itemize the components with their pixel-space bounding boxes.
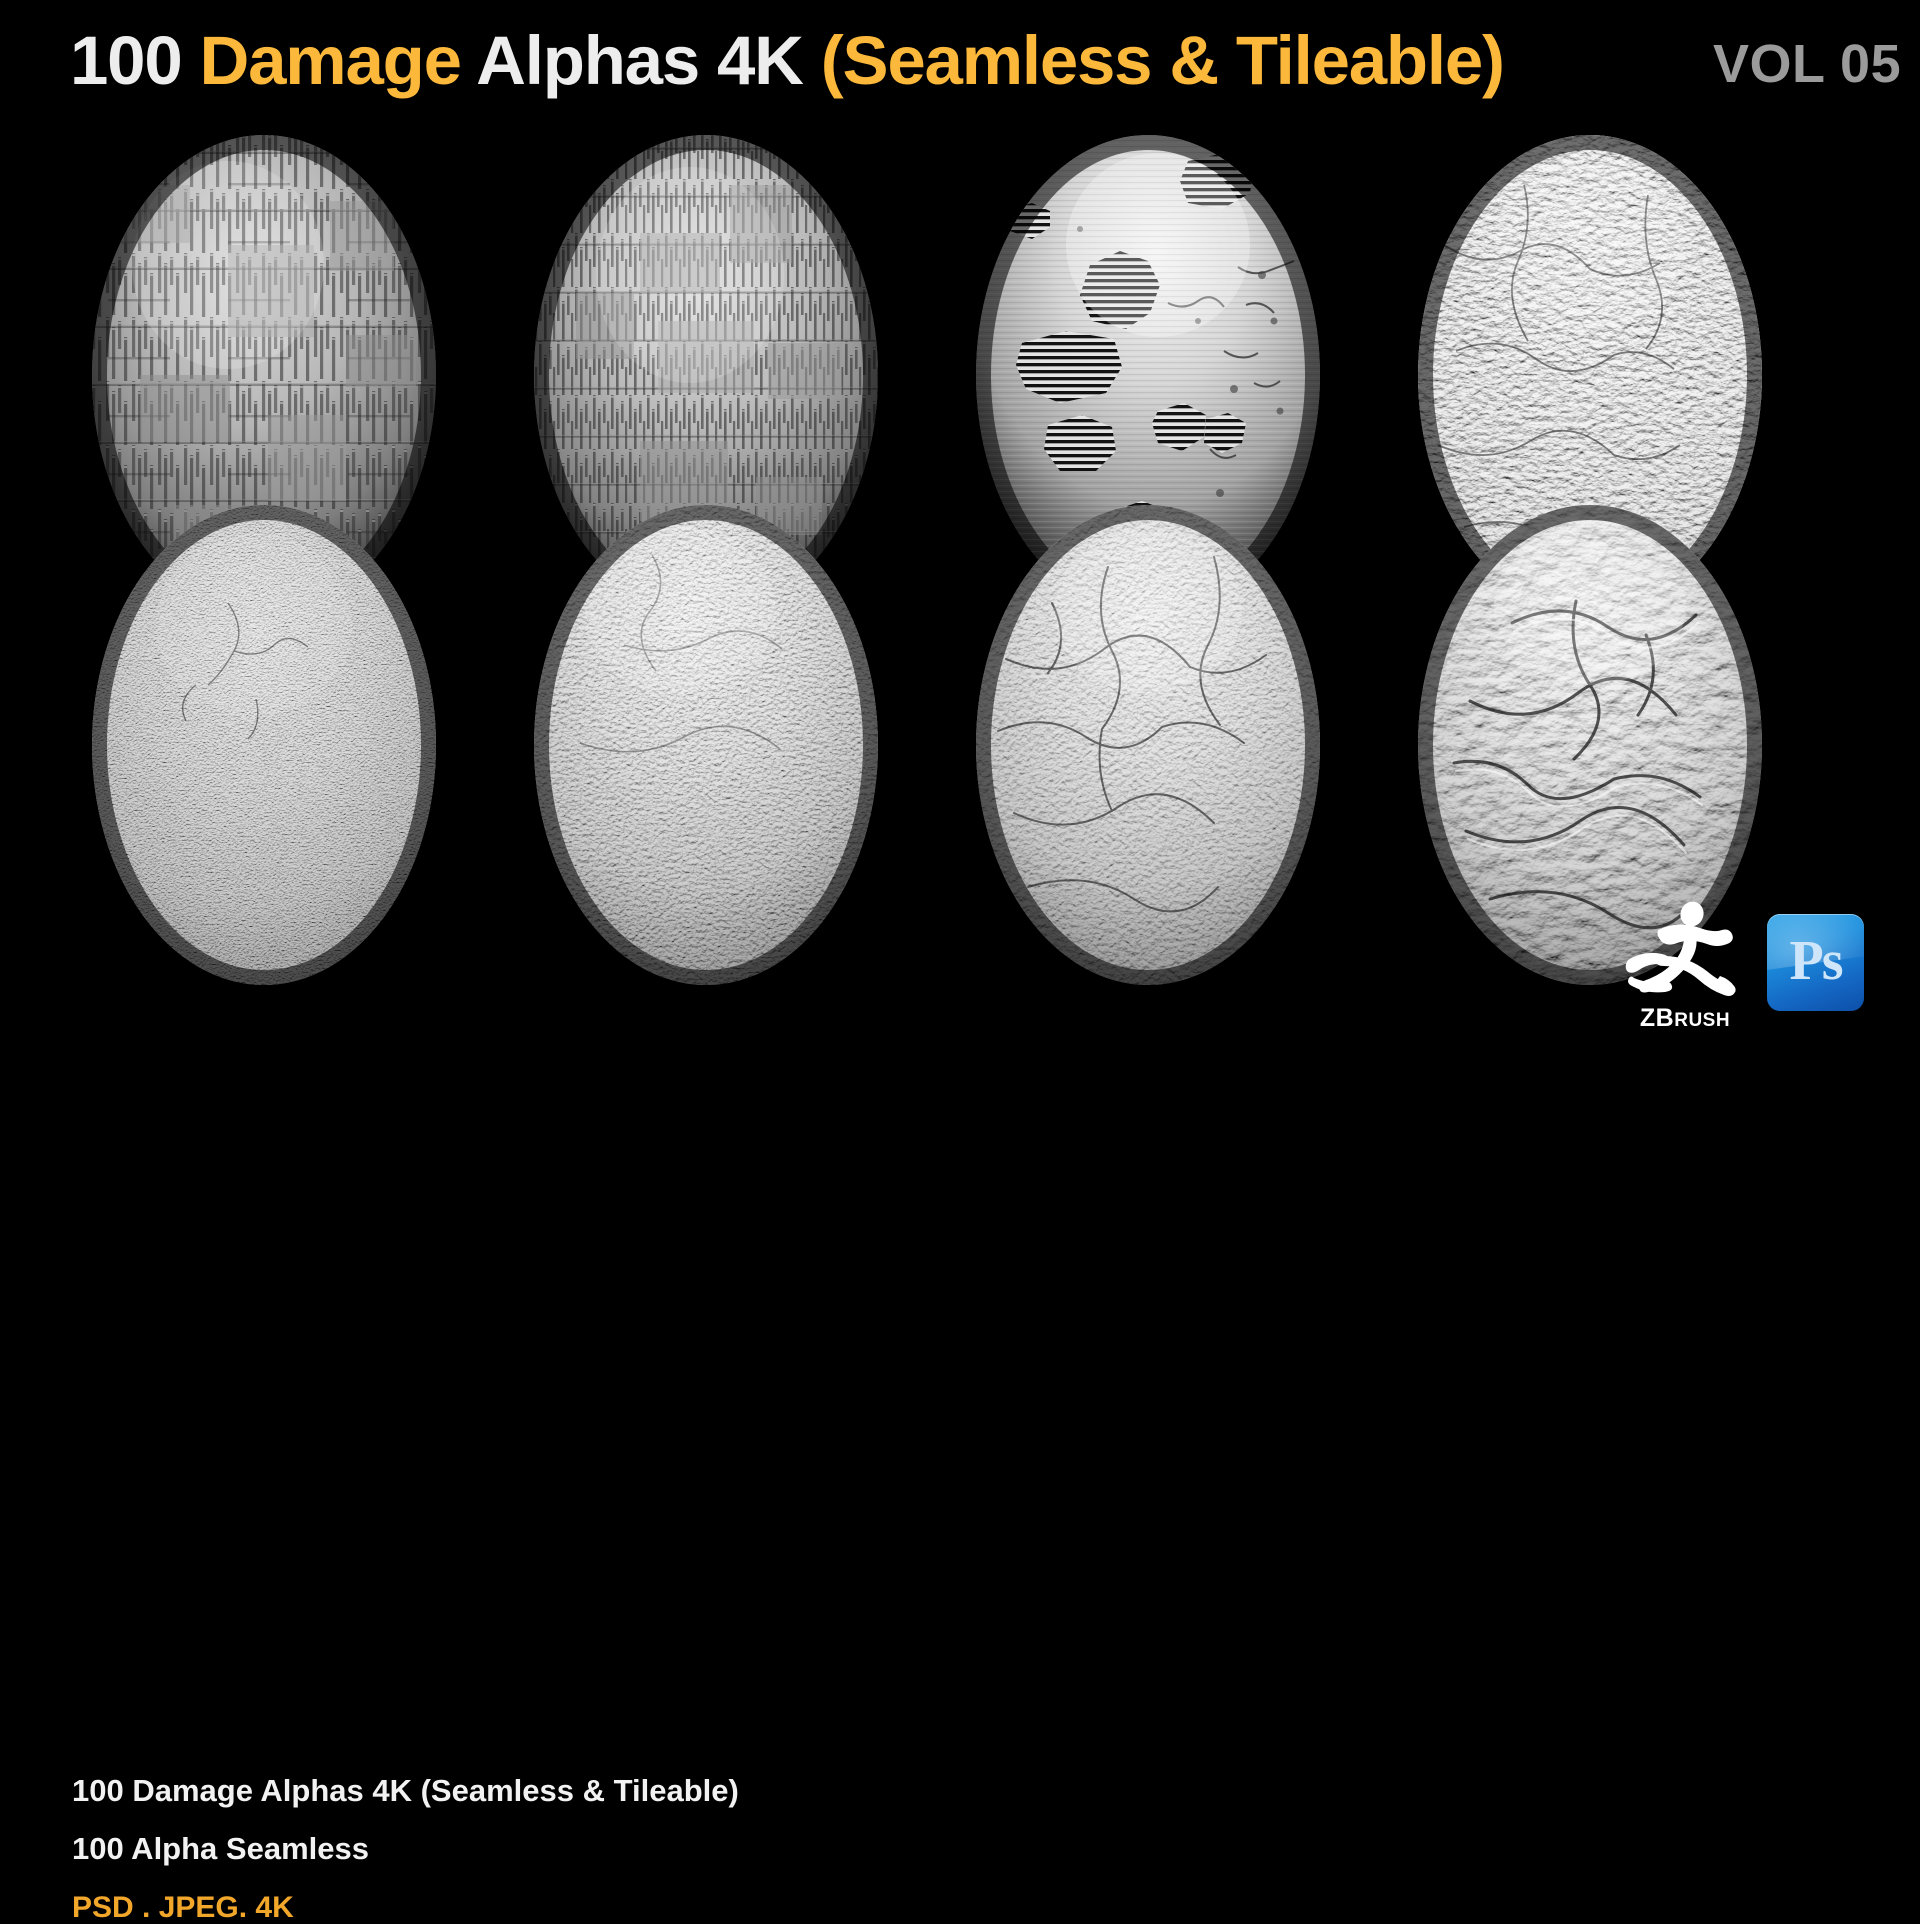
photoshop-glyph: Ps <box>1767 914 1864 1011</box>
footer-line-title: 100 Damage Alphas 4K (Seamless & Tileabl… <box>72 1775 739 1806</box>
zbrush-wordmark-main: ZB <box>1640 1004 1674 1032</box>
zbrush-wordmark: ZBRUSH <box>1622 1006 1748 1031</box>
zbrush-wordmark-rest: RUSH <box>1674 1010 1730 1031</box>
photoshop-logo: Ps <box>1767 914 1864 1011</box>
zbrush-logo: ZBRUSH <box>1620 900 1750 1050</box>
footer-line-formats: PSD . JPEG. 4K <box>72 1893 294 1923</box>
footer-line-count: 100 Alpha Seamless <box>72 1833 369 1864</box>
software-logos: ZBRUSH Ps <box>1620 900 1890 1060</box>
